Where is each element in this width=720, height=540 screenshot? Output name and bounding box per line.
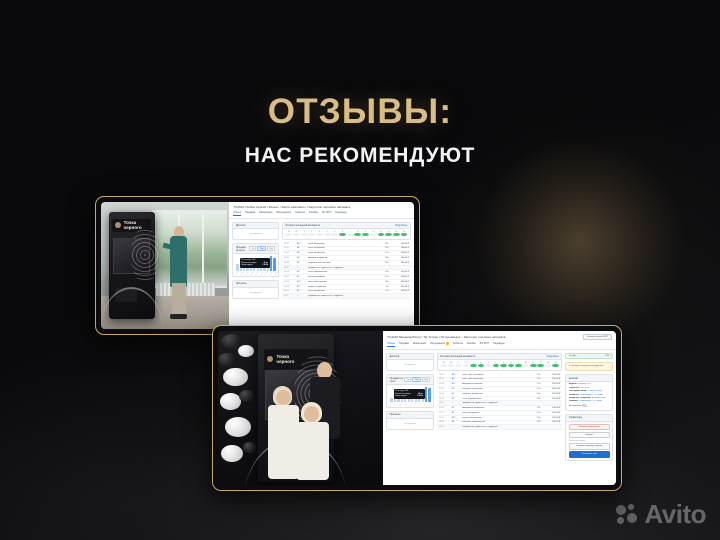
- activity-day-dot[interactable]: [470, 364, 477, 367]
- chart-range-buttons[interactable]: 7д30д90д: [404, 377, 430, 382]
- activity-details-link[interactable]: Подробнее: [395, 224, 407, 227]
- status-online-label: Онлайн: [569, 355, 576, 357]
- transaction-code: В5: [452, 393, 461, 395]
- transaction-qty: 150 г: [376, 243, 390, 245]
- sales-chart-title: Продажи за сутки: [236, 246, 248, 252]
- transaction-qty: 200 г: [528, 393, 541, 395]
- avito-wordmark: Avito: [644, 499, 706, 530]
- controls-title: Управление: [569, 416, 582, 419]
- transaction-time: 13:12: [439, 374, 450, 376]
- machine-info-title: Автомат: [569, 377, 578, 380]
- activity-day-dot[interactable]: [285, 233, 292, 236]
- heading-block: ОТЗЫВЫ: НАС РЕКОМЕНДУЮТ: [0, 92, 720, 168]
- transaction-time: 11:33: [439, 407, 450, 409]
- chart-range-90д[interactable]: 90д: [267, 246, 275, 251]
- chart-bar: [270, 256, 272, 271]
- transaction-name: Американо большой: [462, 383, 526, 385]
- person-torso: [170, 236, 187, 287]
- transaction-name: Чай облепиховый: [308, 276, 374, 278]
- person-torso: [296, 422, 329, 481]
- transaction-name: Латте карамельный: [308, 271, 374, 273]
- chart-tooltip: 29 сентября, 2024 Количество продаж31 шт…: [240, 258, 270, 268]
- display-panel[interactable]: Дисплей нет данных: [386, 353, 434, 372]
- transaction-code: А14: [452, 374, 461, 376]
- chart-xtick: 13.10: [424, 403, 427, 406]
- activity-day-dot[interactable]: [308, 233, 315, 236]
- activity-day-dot[interactable]: [440, 364, 447, 367]
- forecast-panel-title: Прогнозы: [236, 282, 247, 285]
- activity-day-dot[interactable]: [508, 364, 515, 367]
- chart-xtick: 22.09: [241, 272, 244, 275]
- transaction-name: Капучино карамельный: [462, 421, 526, 423]
- tab-badge-icon: [446, 342, 449, 345]
- transaction-sum: 120,00 ₽: [391, 276, 409, 278]
- forecast-panel-body: нет данных: [387, 419, 433, 429]
- activity-day-dot[interactable]: [455, 364, 462, 367]
- transaction-time: 11:52: [439, 402, 450, 404]
- chart-bar: [236, 264, 238, 271]
- transaction-qty: 180 г: [376, 257, 390, 259]
- balloon: [221, 445, 242, 462]
- activity-day-dot[interactable]: [530, 364, 537, 367]
- chart-tooltip: 15 октября, 2024 Количество продаж42 шт …: [394, 389, 425, 399]
- activity-day-dot[interactable]: [339, 233, 346, 236]
- transaction-code: А2: [297, 290, 306, 292]
- transaction-sum: 130,00 ₽: [391, 257, 409, 259]
- sales-chart-title: Продажи за сутки: [390, 377, 403, 383]
- transaction-code: В1: [297, 262, 306, 264]
- tab-ошибки[interactable]: Ошибки: [467, 342, 476, 347]
- transaction-code: В3: [297, 257, 306, 259]
- tab-ингредиенты[interactable]: Ингредиенты: [276, 211, 291, 216]
- transaction-time: 12:30: [439, 388, 450, 390]
- chart-xtick: 08.10: [400, 403, 403, 406]
- transaction-qty: 250 г: [528, 383, 541, 385]
- transaction-sum: 150,00 ₽: [391, 252, 409, 254]
- transaction-code: В12: [452, 417, 461, 419]
- transaction-code: В12: [297, 281, 306, 283]
- dashboard-header: ТС25v2 Глебов Сергей / Клиент / Карта «А…: [229, 202, 414, 211]
- controls-panel[interactable]: Управление Включить режим заказаСбросить…: [565, 414, 613, 461]
- transaction-code: —: [452, 402, 461, 404]
- transaction-time: 11:02: [284, 257, 295, 259]
- display-panel-body: нет данных: [387, 360, 433, 370]
- activity-title: История последней активности: [285, 224, 320, 227]
- transaction-name: Продажи и их Сумма в МГП: Подробнее: [462, 426, 526, 428]
- transaction-qty: 200 г: [376, 262, 390, 264]
- transaction-name: Эспрессо двойной: [308, 286, 374, 288]
- review-photo-2: Точка черного: [218, 331, 383, 485]
- transaction-name: Капучино банановый: [462, 388, 526, 390]
- chart-bar: [428, 388, 430, 402]
- transaction-name: Капучино ванильный: [462, 393, 526, 395]
- alert-box: ⚠ Требуется загрузка ингредиентов: [565, 362, 613, 371]
- person-head: [317, 362, 332, 379]
- transaction-time: 10:48: [284, 262, 295, 264]
- activity-day-dot[interactable]: [354, 233, 361, 236]
- vending-machine: Точка черного: [109, 212, 155, 319]
- chart-xtick: 25.09: [256, 272, 259, 275]
- tab-продажи[interactable]: Продажи: [245, 211, 255, 216]
- transaction-code: А7: [297, 276, 306, 278]
- tab-события[interactable]: События: [295, 211, 305, 216]
- sales-chart-panel[interactable]: Продажи за сутки 7д30д90д 15 октября, 20…: [386, 374, 434, 408]
- activity-day-dot[interactable]: [500, 364, 507, 367]
- page-subtitle: НАС РЕКОМЕНДУЮТ: [0, 144, 720, 168]
- dashboard-header: ТС4215 Минаева Юлия / ТЦ Тетрис / Петроз…: [383, 331, 616, 342]
- dashboard-screenshot-1[interactable]: ТС25v2 Глебов Сергей / Клиент / Карта «А…: [229, 202, 414, 329]
- activity-day-dot[interactable]: [401, 233, 408, 236]
- person-torso: [268, 405, 299, 479]
- transaction-time: 09:40: [284, 286, 295, 288]
- transaction-name: Латте карамельный: [462, 398, 526, 400]
- transaction-sum: 160,00 ₽: [391, 262, 409, 264]
- chart-range-buttons[interactable]: 7д30д90д: [249, 246, 275, 251]
- breadcrumb: ТС4215 Минаева Юлия / ТЦ Тетрис / Петроз…: [387, 335, 505, 339]
- balloon: [218, 353, 236, 367]
- transaction-name: Латте банановый: [308, 247, 374, 249]
- tab-переводы[interactable]: Переводы: [493, 342, 504, 347]
- transaction-time: 12:44: [439, 383, 450, 385]
- activity-day-dot[interactable]: [370, 233, 377, 236]
- transaction-code: В8: [452, 398, 461, 400]
- transaction-code: —: [297, 267, 306, 269]
- chart-range-30д[interactable]: 30д: [412, 377, 420, 382]
- transaction-sum: 150,00 ₽: [543, 374, 560, 376]
- balloon: [243, 442, 256, 453]
- transaction-name: Чай облепиховый: [462, 412, 526, 414]
- transaction-sum: 150,00 ₽: [391, 290, 409, 292]
- transaction-time: 10:19: [284, 271, 295, 273]
- transaction-name: Продажи и их Сумма в МГП: Подробнее: [462, 402, 526, 404]
- activity-day-dot[interactable]: [385, 233, 392, 236]
- quarantine-toggle[interactable]: На карантине: [569, 404, 610, 408]
- balloon: [225, 417, 251, 437]
- activity-day-dot[interactable]: [545, 364, 552, 367]
- activity-day-dot[interactable]: [493, 364, 500, 367]
- avito-dots-icon: [616, 504, 638, 526]
- dashboard-main-column: История последней активности Подробнее 2…: [282, 222, 411, 327]
- chart-xtick: 29.09: [275, 272, 278, 275]
- avito-watermark: Avito: [616, 499, 706, 530]
- chart-xtick: 14.10: [429, 403, 432, 406]
- transaction-code: В2: [452, 407, 461, 409]
- tab-инкассации[interactable]: Инкассации: [259, 211, 272, 216]
- transaction-qty: 150 г: [528, 378, 541, 380]
- activity-details-link[interactable]: Подробнее: [546, 355, 558, 358]
- status-signal-value: 98%: [605, 355, 609, 357]
- tab-лог-мгп[interactable]: Лог МГП: [322, 211, 331, 216]
- activity-day-dot[interactable]: [522, 364, 529, 367]
- transaction-name: Какао классическое: [308, 281, 374, 283]
- transaction-time: 11:17: [439, 412, 450, 414]
- review-photo-1: Точка черного: [101, 202, 229, 329]
- transaction-time: 10:46: [439, 421, 450, 423]
- transaction-time: 12:04: [439, 398, 450, 400]
- person-shoes: [170, 314, 187, 319]
- poster-canvas: ОТЗЫВЫ: НАС РЕКОМЕНДУЮТ Точка черного: [0, 0, 720, 540]
- activity-day-dot[interactable]: [378, 233, 385, 236]
- activity-title: История последней активности: [440, 355, 475, 358]
- chart-xtick: 21.09: [236, 272, 239, 275]
- transaction-name: Флэт Уайт банановый: [462, 374, 526, 376]
- transaction-qty: 150 г: [376, 247, 390, 249]
- activity-day-dot[interactable]: [485, 364, 492, 367]
- chart-range-30д[interactable]: 30д: [257, 246, 265, 251]
- activity-day-dot[interactable]: [362, 233, 369, 236]
- display-panel-title: Дисплей: [390, 355, 400, 358]
- activity-day-dot[interactable]: [463, 364, 470, 367]
- transaction-sum: 140,00 ₽: [543, 417, 560, 419]
- green-button-action[interactable]: Зеленая кнопка МГП: [583, 334, 612, 340]
- tooltip-value-sum: 3 410 ₽: [262, 264, 268, 267]
- activity-day-dot[interactable]: [478, 364, 485, 367]
- transaction-time: 10:32: [284, 267, 295, 269]
- transaction-code: А7: [452, 412, 461, 414]
- transaction-name: Латте ванильный: [308, 290, 374, 292]
- logo-dot-icon: [267, 356, 273, 362]
- transaction-name: Флэт Уайт ванильный: [462, 378, 526, 380]
- transaction-code: —: [297, 295, 306, 297]
- activity-day-dot[interactable]: [537, 364, 544, 367]
- tab-лог-мгп[interactable]: Лог МГП: [480, 342, 489, 347]
- activity-day-dots[interactable]: [285, 233, 407, 236]
- chart-range-7д[interactable]: 7д: [249, 246, 256, 251]
- transaction-sum: 110,00 ₽: [391, 286, 409, 288]
- transaction-qty: 180 г: [528, 417, 541, 419]
- transaction-qty: 200 г: [528, 412, 541, 414]
- transaction-time: 13:01: [439, 378, 450, 380]
- forecast-panel-title: Прогнозы: [390, 413, 401, 416]
- transaction-code: А13: [297, 243, 306, 245]
- transaction-code: В4: [452, 421, 461, 423]
- dashboard-tabs[interactable]: ОбщееПродажиИнкассацииИнгредиентыСобытия…: [383, 342, 616, 350]
- transaction-name: Латте ванильный: [308, 252, 374, 254]
- chart-xtick: 26.09: [261, 272, 264, 275]
- transaction-sum: 150,00 ₽: [391, 243, 409, 245]
- chart-range-7д[interactable]: 7д: [404, 377, 411, 382]
- chart-xtick: 07.10: [395, 403, 398, 406]
- transactions-list[interactable]: 11:31А13Латте банановый150 г150,00 ₽11:2…: [282, 242, 411, 326]
- transaction-qty: 200 г: [528, 421, 541, 423]
- balloon: [223, 368, 248, 386]
- tooltip-value-sum: 5 130 ₽: [417, 395, 423, 398]
- chart-bar: [273, 258, 275, 271]
- tab-переводы[interactable]: Переводы: [335, 211, 346, 216]
- transaction-summary-row[interactable]: 09:12—Продажи и их Сумма в МГП: Подробне…: [282, 294, 411, 299]
- sales-bar-chart: 15 октября, 2024 Количество продаж42 шт …: [387, 385, 433, 407]
- transaction-code: В3: [452, 388, 461, 390]
- transaction-time: 10:05: [284, 276, 295, 278]
- office-window: [152, 210, 226, 289]
- control-button[interactable]: Включить режим заказа: [569, 424, 610, 430]
- control-button[interactable]: Сбросить: [569, 432, 610, 438]
- transaction-code: А9: [452, 378, 461, 380]
- transaction-name: Американо двойной: [308, 257, 374, 259]
- transaction-sum: 140,00 ₽: [391, 281, 409, 283]
- tab-общее[interactable]: Общее: [233, 211, 241, 216]
- chart-bar: [425, 387, 427, 402]
- transaction-qty: 180 г: [528, 407, 541, 409]
- status-badge: Онлайн 98%: [565, 353, 613, 360]
- transaction-code: А3: [297, 252, 306, 254]
- person-legs: [172, 283, 186, 316]
- chart-range-90д[interactable]: 90д: [422, 377, 430, 382]
- transaction-code: А8: [297, 247, 306, 249]
- transaction-qty: 150 г: [376, 290, 390, 292]
- transaction-sum: 130,00 ₽: [543, 407, 560, 409]
- transaction-qty: 150 г: [528, 398, 541, 400]
- alert-text: Требуется загрузка ингредиентов: [571, 365, 603, 367]
- machine-info-panel: Автомат Модель: vendmax v.2.0Серия МГП: …: [565, 374, 613, 411]
- tab-ошибки[interactable]: Ошибки: [309, 211, 318, 216]
- sales-bar-chart: 29 сентября, 2024 Количество продаж31 шт…: [233, 254, 277, 276]
- transaction-sum: 150,00 ₽: [391, 247, 409, 249]
- chart-xtick: 10.10: [410, 403, 413, 406]
- activity-day-dot[interactable]: [301, 233, 308, 236]
- transaction-name: Какао классическое: [462, 417, 526, 419]
- transaction-time: 11:02: [439, 417, 450, 419]
- chart-xtick: 24.09: [251, 272, 254, 275]
- dashboard-sidebar: Онлайн 98% ⚠ Требуется загрузка ингредие…: [565, 353, 613, 483]
- control-button[interactable]: Отправить команду в автомат: [569, 443, 610, 449]
- tab-продажи[interactable]: Продажи: [399, 342, 409, 347]
- machine-arc-graphic: [101, 287, 163, 329]
- transaction-qty: 60 г: [376, 286, 390, 288]
- transaction-sum: 120,00 ₽: [543, 412, 560, 414]
- transactions-list[interactable]: 13:12А14Флэт Уайт банановый150 г150,00 ₽…: [437, 373, 563, 482]
- person-head: [276, 390, 291, 405]
- balloon: [239, 390, 254, 402]
- transaction-time: 10:29: [439, 426, 450, 428]
- transaction-name: Американо ванильный: [462, 407, 526, 409]
- transaction-sum: 150,00 ₽: [543, 378, 560, 380]
- transaction-qty: 180 г: [376, 281, 390, 283]
- tab-ингредиенты[interactable]: Ингредиенты: [430, 342, 449, 347]
- display-panel[interactable]: Дисплей нет данных: [232, 222, 278, 241]
- tab-общее[interactable]: Общее: [387, 342, 395, 347]
- transaction-sum: 160,00 ₽: [543, 421, 560, 423]
- logo-dot-icon: [115, 222, 121, 228]
- transaction-code: В11: [452, 383, 461, 385]
- transaction-sum: 150,00 ₽: [543, 398, 560, 400]
- transaction-time: 09:51: [284, 281, 295, 283]
- activity-day-dot[interactable]: [324, 233, 331, 236]
- chart-xtick: 09.10: [405, 403, 408, 406]
- display-panel-body: нет данных: [233, 229, 277, 239]
- activity-panel[interactable]: История последней активности Подробнее 2…: [282, 222, 411, 240]
- chart-xtick: 28.09: [270, 272, 273, 275]
- logo-line-2: черного: [276, 359, 294, 364]
- dashboard-left-column: Дисплей нет данных Продажи за сутки 7д30…: [386, 353, 434, 483]
- transaction-qty: 200 г: [376, 276, 390, 278]
- tooltip-label-sum: Сумма продаж: [395, 395, 407, 398]
- tab-инкассации[interactable]: Инкассации: [413, 342, 426, 347]
- chart-xtick: 12.10: [419, 403, 422, 406]
- activity-panel[interactable]: История последней активности Подробнее 2…: [437, 353, 563, 371]
- chart-xtick: 23.09: [246, 272, 249, 275]
- activity-day-dot[interactable]: [515, 364, 522, 367]
- review-card-1[interactable]: Точка черного ТС25v2 Глебов С: [95, 196, 420, 335]
- transaction-name: Капучино классический: [308, 262, 374, 264]
- transaction-name: Продажи и их Сумма в МГП: Подробнее: [308, 295, 374, 297]
- transaction-time: 09:28: [284, 290, 295, 292]
- chart-bar: [390, 398, 392, 402]
- control-button[interactable]: Посмотреть логи: [569, 451, 610, 457]
- activity-day-dot[interactable]: [448, 364, 455, 367]
- activity-day-dots[interactable]: [440, 364, 559, 367]
- dashboard-left-column: Дисплей нет данных Продажи за сутки 7д30…: [232, 222, 278, 327]
- transaction-sum: 130,00 ₽: [543, 383, 560, 385]
- balloon: [220, 393, 241, 410]
- transaction-sum: 160,00 ₽: [543, 393, 560, 395]
- transaction-code: —: [452, 426, 461, 428]
- forecast-panel[interactable]: Прогнозы нет данных: [232, 280, 278, 299]
- balloon: [238, 345, 255, 357]
- transaction-sum: 160,00 ₽: [543, 388, 560, 390]
- page-title: ОТЗЫВЫ:: [0, 92, 720, 132]
- transaction-sum: 150,00 ₽: [391, 271, 409, 273]
- transaction-time: 11:21: [284, 247, 295, 249]
- transaction-qty: 150 г: [376, 252, 390, 254]
- transaction-qty: 150 г: [376, 271, 390, 273]
- transaction-qty: 150 г: [528, 374, 541, 376]
- activity-day-dot[interactable]: [552, 364, 559, 367]
- transaction-name: Продажи и их Сумма в МГП: Подробнее: [308, 267, 374, 269]
- transaction-name: Латте банановый: [308, 243, 374, 245]
- tab-события[interactable]: События: [453, 342, 463, 347]
- control-caption: Перезапуск модуля: [569, 440, 610, 442]
- person-head: [304, 406, 319, 421]
- dashboard-screenshot-2[interactable]: ТС4215 Минаева Юлия / ТЦ Тетрис / Петроз…: [383, 331, 616, 485]
- transaction-code: А5: [297, 271, 306, 273]
- machine-swirl-graphic: [131, 227, 160, 282]
- display-panel-title: Дисплей: [236, 224, 246, 227]
- forecast-panel-body: нет данных: [233, 288, 277, 298]
- chart-xtick: 11.10: [414, 403, 417, 406]
- activity-day-dot[interactable]: [293, 233, 300, 236]
- transaction-time: 11:31: [284, 243, 295, 245]
- review-card-2[interactable]: Точка черного: [212, 325, 622, 491]
- transaction-qty: 200 г: [528, 388, 541, 390]
- transaction-code: В2: [297, 286, 306, 288]
- transaction-time: 11:14: [284, 252, 295, 254]
- activity-day-dot[interactable]: [331, 233, 338, 236]
- sales-chart-panel[interactable]: Продажи за сутки 7д30д90д 29 сентября, 2…: [232, 243, 278, 277]
- breadcrumb: ТС25v2 Глебов Сергей / Клиент / Карта «А…: [233, 205, 350, 209]
- chart-xtick: 27.09: [265, 272, 268, 275]
- dashboard-tabs[interactable]: ОбщееПродажиИнкассацииИнгредиентыСобытия…: [229, 211, 414, 219]
- transaction-summary-row[interactable]: 10:29—Продажи и их Сумма в МГП: Подробне…: [437, 425, 563, 430]
- transaction-time: 09:12: [284, 295, 295, 297]
- chart-xtick: 06.10: [390, 403, 393, 406]
- activity-day-dot[interactable]: [347, 233, 354, 236]
- activity-day-dot[interactable]: [393, 233, 400, 236]
- activity-day-dot[interactable]: [316, 233, 323, 236]
- forecast-panel[interactable]: Прогнозы нет данных: [386, 411, 434, 430]
- dashboard-main-column: История последней активности Подробнее 2…: [437, 353, 563, 483]
- tooltip-label-sum: Сумма продаж: [241, 264, 253, 267]
- transaction-time: 12:18: [439, 393, 450, 395]
